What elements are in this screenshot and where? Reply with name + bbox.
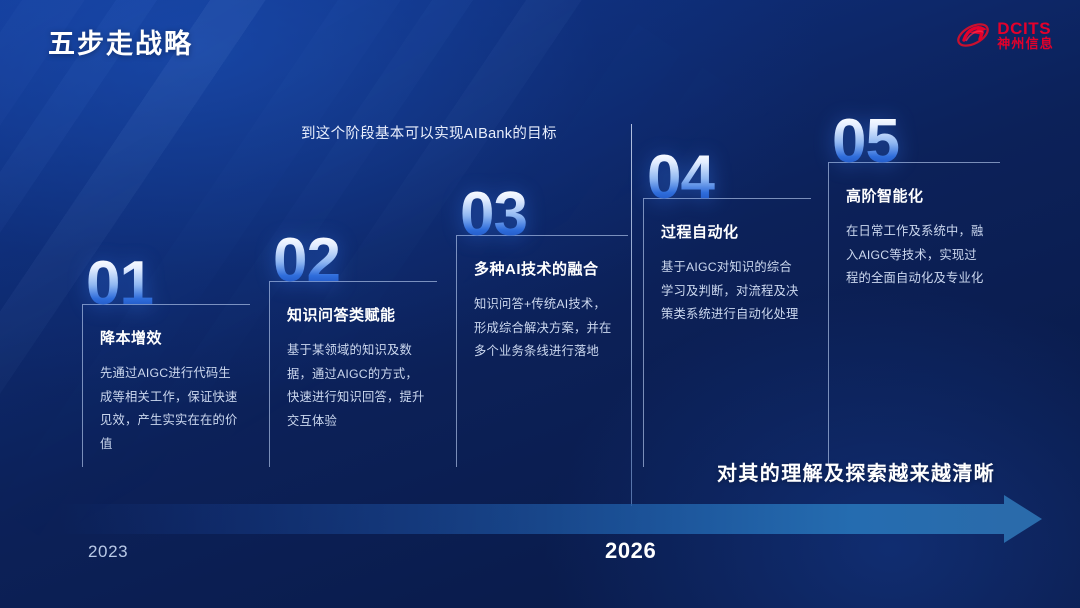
step-number: 02 <box>273 235 437 287</box>
logo-english-text: DCITS <box>997 20 1054 37</box>
step-card-01: 01 降本增效 先通过AIGC进行代码生成等相关工作，保证快速见效，产生实实在在… <box>82 258 250 467</box>
step-body: 知识问答+传统AI技术，形成综合解决方案，并在多个业务条线进行落地 <box>474 293 616 364</box>
slide-canvas: 五步走战略 DCITS 神州信息 到这个阶段基本可以实现AIBank的目标 01… <box>0 0 1080 608</box>
step-body: 基于某领域的知识及数据，通过AIGC的方式，快速进行知识回答，提升交互体验 <box>287 339 425 433</box>
arrow-bar <box>60 504 1007 534</box>
timeline-year-end: 2026 <box>605 538 656 564</box>
step-card-03: 03 多种AI技术的融合 知识问答+传统AI技术，形成综合解决方案，并在多个业务… <box>456 189 628 467</box>
step-content: 过程自动化 基于AIGC对知识的综合学习及判断，对流程及决策类系统进行自动化处理 <box>643 198 811 467</box>
timeline-arrow <box>60 495 1060 543</box>
callout-text: 到这个阶段基本可以实现AIBank的目标 <box>301 122 557 143</box>
swirl-icon <box>956 20 990 50</box>
step-body: 先通过AIGC进行代码生成等相关工作，保证快速见效，产生实实在在的价值 <box>100 362 238 456</box>
step-content: 高阶智能化 在日常工作及系统中，融入AIGC等技术，实现过程的全面自动化及专业化 <box>828 162 1000 467</box>
step-title: 过程自动化 <box>661 221 799 242</box>
step-content: 知识问答类赋能 基于某领域的知识及数据，通过AIGC的方式，快速进行知识回答，提… <box>269 281 437 467</box>
step-number: 03 <box>460 189 628 241</box>
step-content: 降本增效 先通过AIGC进行代码生成等相关工作，保证快速见效，产生实实在在的价值 <box>82 304 250 467</box>
logo-chinese-text: 神州信息 <box>997 37 1054 50</box>
timeline-arrow-label: 对其的理解及探索越来越清晰 <box>717 457 995 486</box>
step-body: 在日常工作及系统中，融入AIGC等技术，实现过程的全面自动化及专业化 <box>846 220 988 291</box>
step-title: 降本增效 <box>100 327 238 348</box>
step-number: 01 <box>86 258 250 310</box>
step-body: 基于AIGC对知识的综合学习及判断，对流程及决策类系统进行自动化处理 <box>661 256 799 327</box>
step-content: 多种AI技术的融合 知识问答+传统AI技术，形成综合解决方案，并在多个业务条线进… <box>456 235 628 467</box>
arrow-head-icon <box>1004 495 1042 543</box>
timeline-year-start: 2023 <box>88 542 128 562</box>
step-title: 多种AI技术的融合 <box>474 258 616 279</box>
callout-connector-line <box>631 124 632 506</box>
page-title: 五步走战略 <box>48 22 193 61</box>
step-number: 05 <box>832 116 1000 168</box>
step-title: 知识问答类赋能 <box>287 304 425 325</box>
step-title: 高阶智能化 <box>846 185 988 206</box>
step-number: 04 <box>647 152 811 204</box>
step-card-02: 02 知识问答类赋能 基于某领域的知识及数据，通过AIGC的方式，快速进行知识回… <box>269 235 437 467</box>
brand-logo: DCITS 神州信息 <box>956 20 1054 51</box>
step-card-04: 04 过程自动化 基于AIGC对知识的综合学习及判断，对流程及决策类系统进行自动… <box>643 152 811 467</box>
step-card-05: 05 高阶智能化 在日常工作及系统中，融入AIGC等技术，实现过程的全面自动化及… <box>828 116 1000 467</box>
